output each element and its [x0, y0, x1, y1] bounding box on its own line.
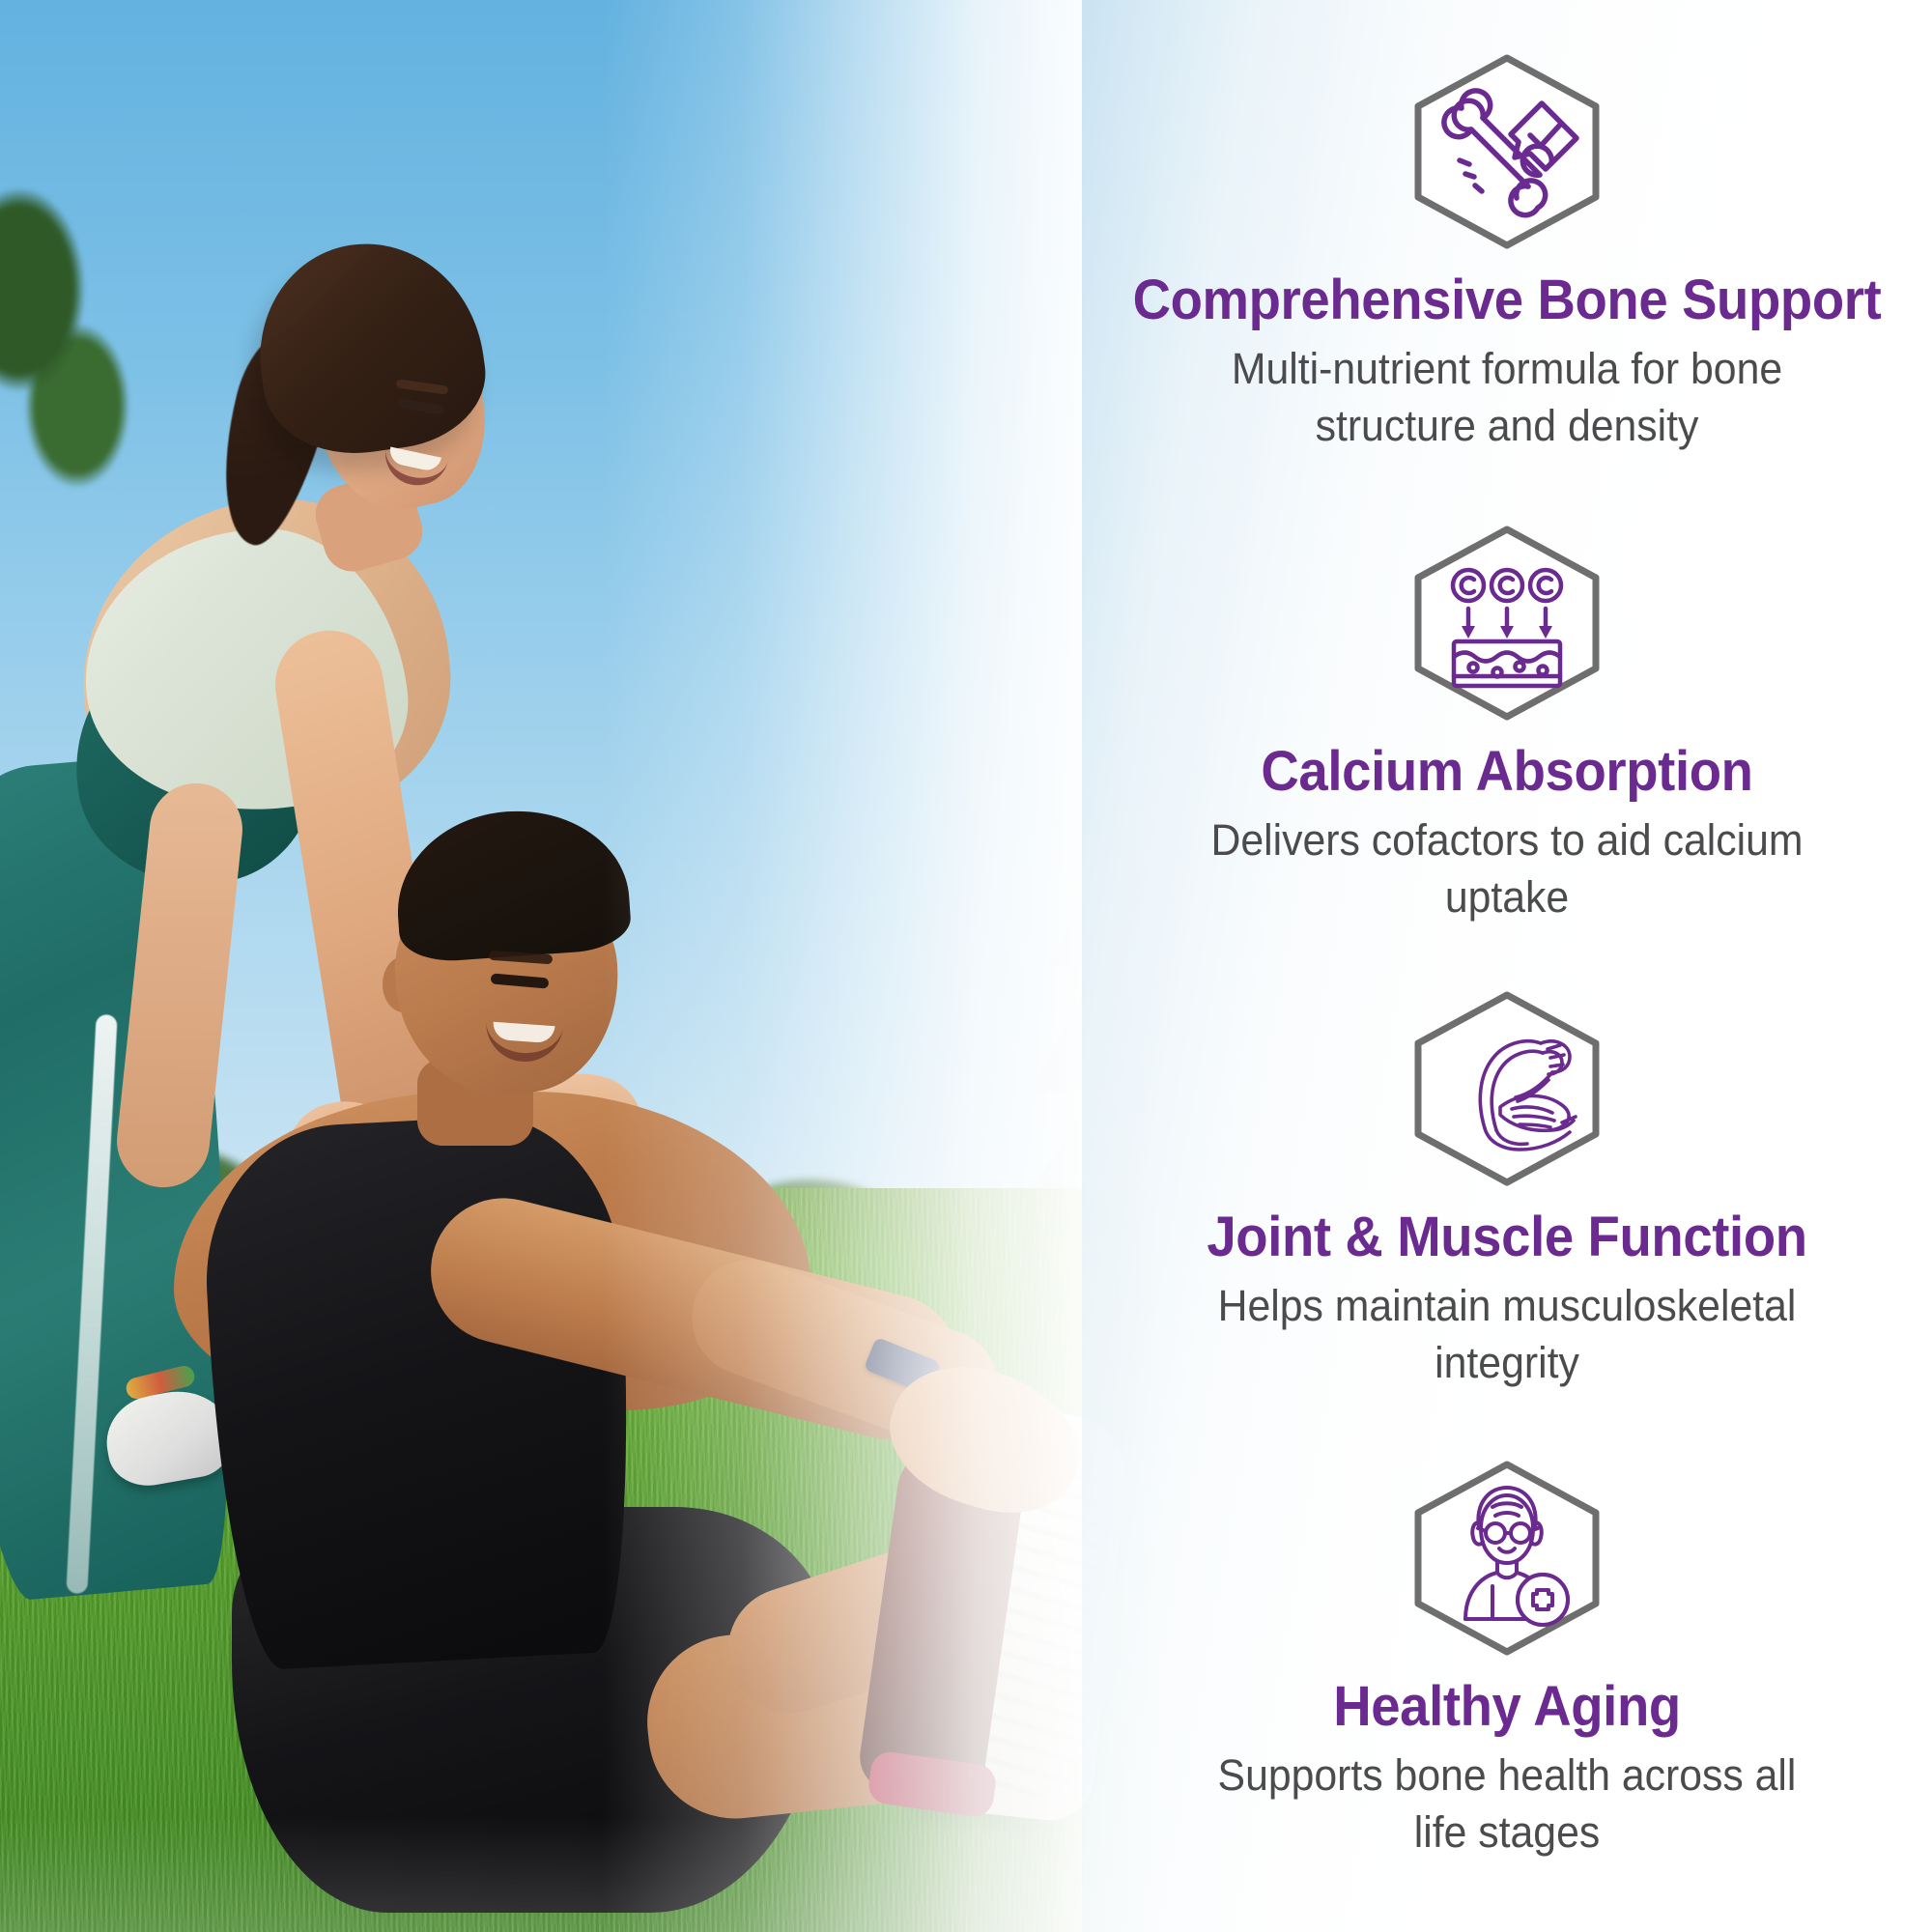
feature-item-joint-muscle: Joint & Muscle Function Helps maintain m…	[1082, 987, 1932, 1391]
feature-description: Delivers cofactors to aid calcium uptake	[1190, 812, 1824, 925]
feature-title: Healthy Aging	[1107, 1677, 1906, 1736]
feature-item-calcium-absorption: Calcium Absorption Delivers cofactors to…	[1082, 522, 1932, 925]
photo-bottom-fade	[0, 1816, 1159, 1932]
bone-check-icon	[1396, 50, 1618, 253]
feature-title: Joint & Muscle Function	[1107, 1207, 1906, 1266]
feature-title: Calcium Absorption	[1107, 742, 1906, 801]
calcium-absorption-icon	[1396, 522, 1618, 724]
feature-list: Comprehensive Bone Support Multi-nutrien…	[1082, 0, 1932, 1932]
feature-description: Helps maintain musculoskeletal integrity	[1190, 1278, 1824, 1391]
flexed-bicep-icon	[1396, 987, 1618, 1190]
feature-description: Supports bone health across all life sta…	[1190, 1747, 1824, 1861]
feature-title: Comprehensive Bone Support	[1107, 270, 1906, 329]
photo-right-fade	[0, 0, 1159, 1932]
senior-health-icon	[1396, 1457, 1618, 1660]
infographic-page: Comprehensive Bone Support Multi-nutrien…	[0, 0, 1932, 1932]
feature-item-bone-support: Comprehensive Bone Support Multi-nutrien…	[1082, 50, 1932, 454]
feature-item-healthy-aging: Healthy Aging Supports bone health acros…	[1082, 1457, 1932, 1861]
lifestyle-photo	[0, 0, 1159, 1932]
feature-description: Multi-nutrient formula for bone structur…	[1190, 341, 1824, 454]
